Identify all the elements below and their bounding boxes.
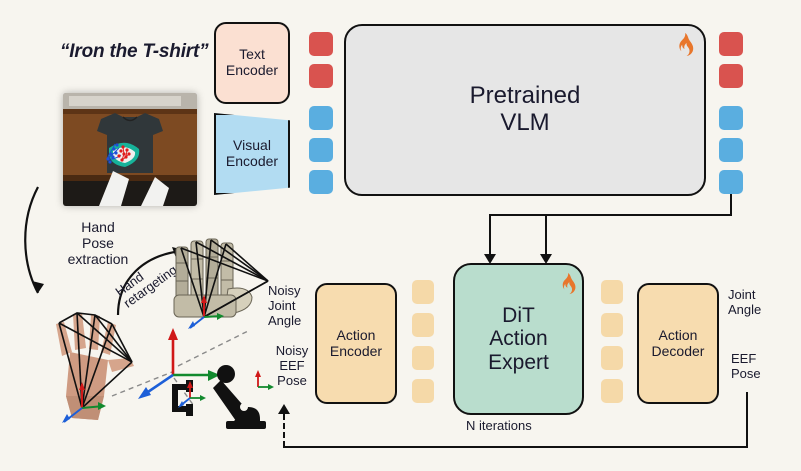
n-iterations-label: N iterations	[466, 419, 532, 434]
dit-action-expert-label: DiT Action Expert	[488, 304, 549, 375]
action-encoder-label: Action Encoder	[330, 328, 382, 359]
output-token-visual-3	[719, 170, 743, 194]
visual-encoder-label: Visual Encoder	[226, 138, 278, 169]
output-token-text-1	[719, 32, 743, 56]
pretrained-vlm-label: Pretrained VLM	[470, 83, 581, 137]
action-out-token-3	[601, 346, 623, 370]
input-token-text-1	[309, 32, 333, 56]
input-token-text-2	[309, 64, 333, 88]
feedback-down-line	[746, 392, 748, 448]
flame-icon	[672, 32, 696, 63]
visual-encoder-box[interactable]: Visual Encoder	[214, 113, 290, 195]
figure-canvas: “Iron the T-shirt”	[0, 0, 801, 471]
action-out-token-1	[601, 280, 623, 304]
flame-icon-dit	[556, 272, 578, 301]
output-token-text-2	[719, 64, 743, 88]
text-encoder-box[interactable]: Text Encoder	[214, 22, 290, 104]
feedback-arrow-head	[278, 404, 290, 414]
action-in-token-3	[412, 346, 434, 370]
dit-cond-line-left	[489, 214, 491, 256]
input-token-visual-3	[309, 170, 333, 194]
vlm-to-dit-bus	[489, 214, 732, 216]
text-encoder-label: Text Encoder	[226, 47, 278, 78]
joint-angle-label: Joint Angle	[728, 288, 780, 318]
eef-pose-label: EEF Pose	[731, 352, 783, 382]
feedback-up-dashed-line	[283, 414, 285, 447]
noisy-joint-angle-label: Noisy Joint Angle	[268, 284, 316, 329]
action-decoder-box[interactable]: Action Decoder	[637, 283, 719, 404]
action-encoder-box[interactable]: Action Encoder	[315, 283, 397, 404]
noisy-eef-pose-label: Noisy EEF Pose	[268, 344, 316, 389]
action-in-token-2	[412, 313, 434, 337]
action-decoder-label: Action Decoder	[652, 328, 705, 359]
output-token-visual-1	[719, 106, 743, 130]
feedback-bottom-line	[283, 446, 748, 448]
pretrained-vlm-box[interactable]: Pretrained VLM	[344, 24, 706, 196]
action-out-token-2	[601, 313, 623, 337]
input-token-visual-2	[309, 138, 333, 162]
input-token-visual-1	[309, 106, 333, 130]
dit-cond-line-right	[545, 214, 547, 256]
vlm-output-drop-line	[730, 194, 732, 216]
output-token-visual-2	[719, 138, 743, 162]
action-out-token-4	[601, 379, 623, 403]
action-in-token-1	[412, 280, 434, 304]
task-prompt-text: “Iron the T-shirt”	[60, 41, 208, 63]
action-in-token-4	[412, 379, 434, 403]
